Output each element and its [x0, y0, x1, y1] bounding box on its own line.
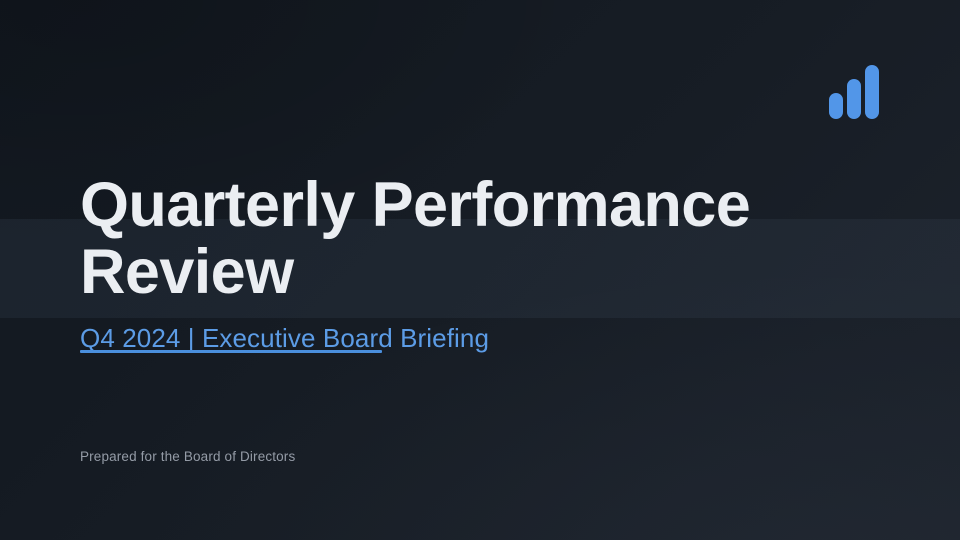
bar-chart-icon-bar-1: [829, 93, 843, 119]
bar-chart-icon: [829, 64, 879, 119]
slide-subtitle-underline: [80, 350, 382, 353]
slide-content: Quarterly Performance Review Q4 2024 | E…: [80, 0, 900, 540]
bar-chart-icon-bar-3: [865, 65, 879, 119]
bar-chart-icon-bar-2: [847, 79, 861, 119]
slide-subtitle-wrapper: Q4 2024 | Executive Board Briefing: [80, 322, 840, 356]
page-title: Quarterly Performance Review: [80, 172, 840, 306]
presentation-slide: Quarterly Performance Review Q4 2024 | E…: [0, 0, 960, 540]
slide-footer-note: Prepared for the Board of Directors: [80, 449, 295, 465]
